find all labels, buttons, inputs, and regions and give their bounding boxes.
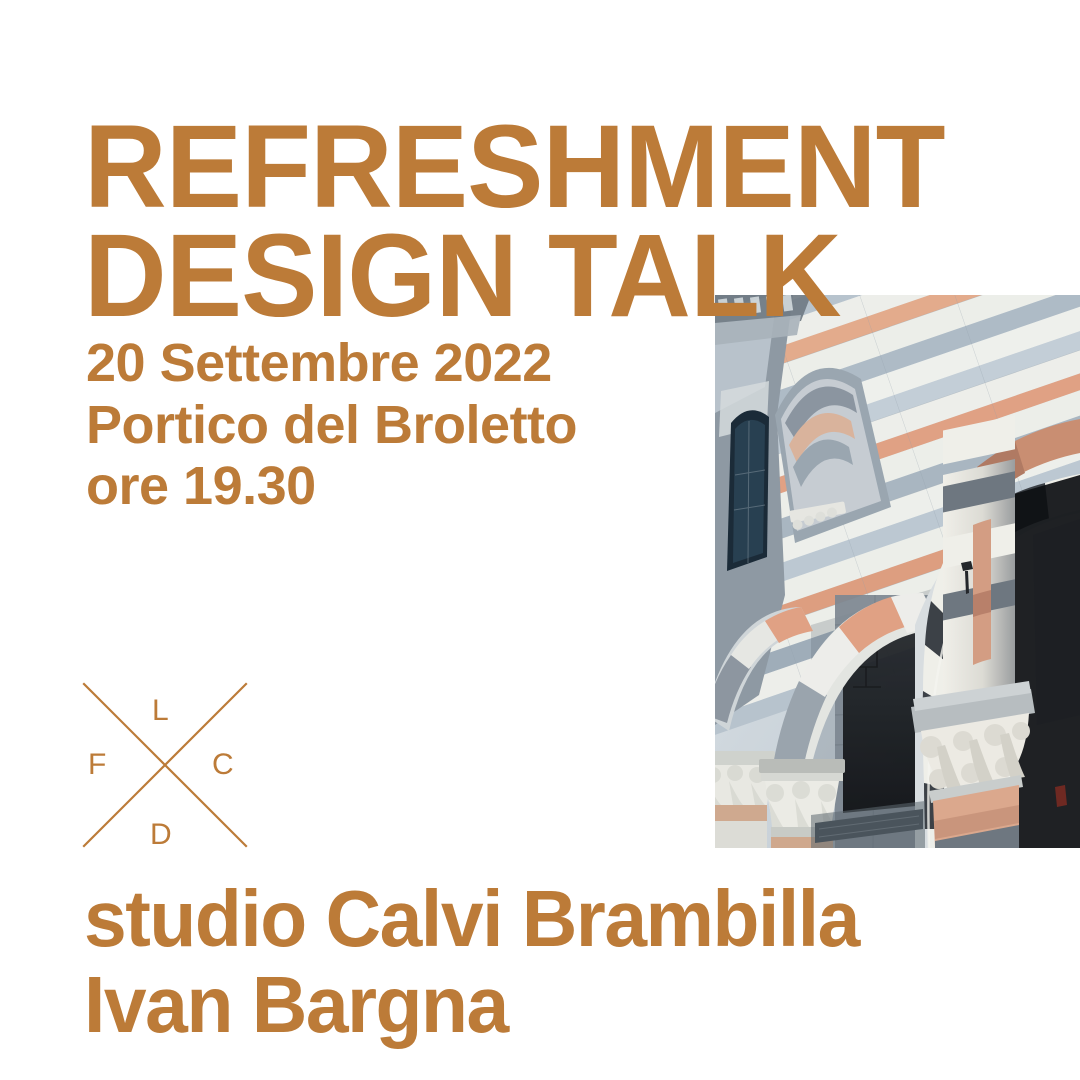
page-title: REFRESHMENT DESIGN TALK [84, 113, 1015, 330]
logo-letter-top: L [152, 694, 169, 727]
poster-canvas: REFRESHMENT DESIGN TALK 20 Settembre 202… [0, 0, 1080, 1080]
logo-letter-left: F [88, 748, 107, 781]
lfcd-x-monogram-icon: L F C D [78, 678, 252, 852]
lfcd-logo[interactable]: L F C D [78, 678, 252, 852]
event-details: 20 Settembre 2022 Portico del Broletto o… [86, 333, 786, 518]
speaker-credits: studio Calvi Brambilla Ivan Bargna [84, 876, 1006, 1047]
logo-letter-bottom: D [150, 818, 172, 851]
logo-letter-right: C [212, 748, 234, 781]
